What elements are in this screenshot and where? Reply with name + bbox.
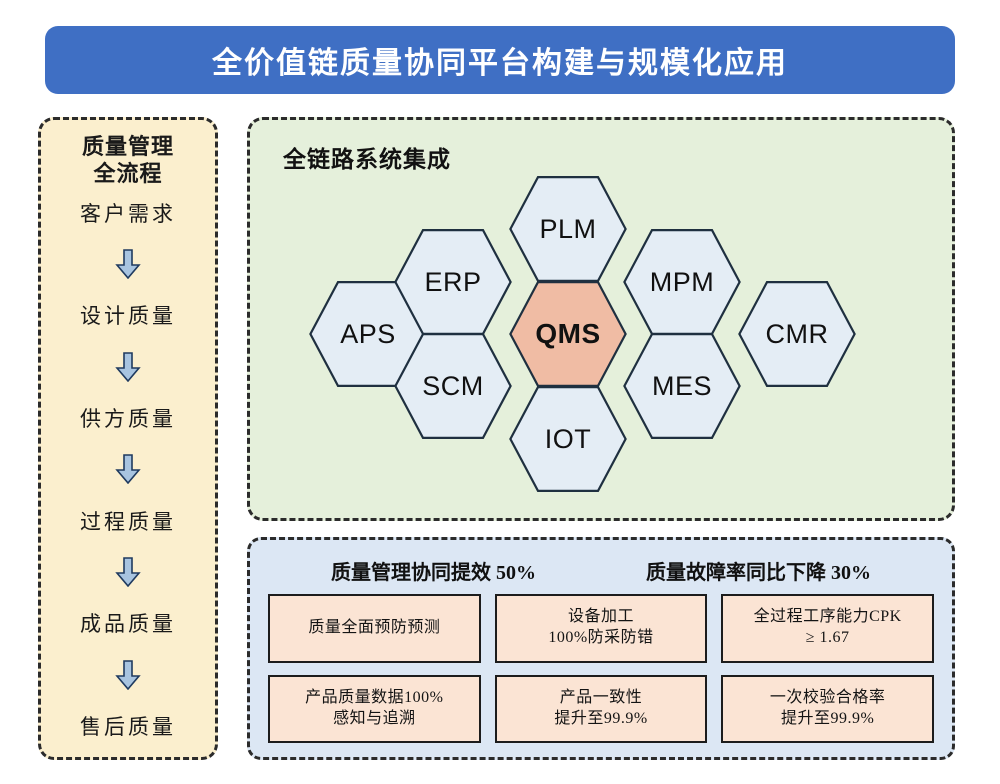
hex-node-label: ERP xyxy=(424,267,481,298)
result-card[interactable]: 产品质量数据100% 感知与追溯 xyxy=(268,675,481,744)
flow-step-3[interactable]: 供方质量 xyxy=(80,403,176,433)
quality-flow-title: 质量管理 全流程 xyxy=(82,134,174,188)
quality-flow-panel: 质量管理 全流程 客户需求 设计质量 供方质量 过程质量 成品质量 售后质量 xyxy=(38,117,218,760)
result-card-text: 全过程工序能力CPK ≥ 1.67 xyxy=(754,607,902,649)
hex-node-iot[interactable]: IOT xyxy=(508,385,628,493)
infographic-root: 全价值链质量协同平台构建与规模化应用 质量管理 全流程 客户需求 设计质量 供方… xyxy=(0,0,1000,784)
kpi-stats-row: 质量管理协同提效 50% 质量故障率同比下降 30% xyxy=(264,550,938,590)
result-card[interactable]: 一次校验合格率 提升至99.9% xyxy=(721,675,934,744)
arrow-down-icon xyxy=(114,249,142,279)
hex-node-label: APS xyxy=(340,319,396,350)
result-card[interactable]: 设备加工 100%防采防错 xyxy=(495,594,708,663)
hex-node-qms[interactable]: QMS xyxy=(508,280,628,388)
result-card-text: 产品一致性 提升至99.9% xyxy=(554,688,647,730)
result-card-text: 质量全面预防预测 xyxy=(308,618,440,639)
result-card[interactable]: 质量全面预防预测 xyxy=(268,594,481,663)
kpi-stat-collaboration: 质量管理协同提效 50% xyxy=(331,556,536,585)
arrow-down-icon xyxy=(114,660,142,690)
hex-node-label: CMR xyxy=(766,319,829,350)
hex-node-label: SCM xyxy=(422,371,484,402)
hex-node-label: MPM xyxy=(650,267,715,298)
hex-node-label: IOT xyxy=(545,424,592,455)
result-card-text: 设备加工 100%防采防错 xyxy=(548,607,653,649)
arrow-down-icon xyxy=(114,557,142,587)
hex-node-scm[interactable]: SCM xyxy=(393,332,513,440)
result-card[interactable]: 产品一致性 提升至99.9% xyxy=(495,675,708,744)
flow-step-6[interactable]: 售后质量 xyxy=(80,711,176,741)
page-title: 全价值链质量协同平台构建与规模化应用 xyxy=(212,38,788,82)
results-panel: 质量管理协同提效 50% 质量故障率同比下降 30% 质量全面预防预测 设备加工… xyxy=(247,537,955,760)
hex-node-erp[interactable]: ERP xyxy=(393,228,513,336)
result-card-text: 一次校验合格率 提升至99.9% xyxy=(770,688,886,730)
hex-node-cmr[interactable]: CMR xyxy=(737,280,857,388)
arrow-down-icon xyxy=(114,454,142,484)
hex-node-mpm[interactable]: MPM xyxy=(622,228,742,336)
hex-node-label: PLM xyxy=(539,214,596,245)
hex-node-plm[interactable]: PLM xyxy=(508,175,628,283)
flow-step-5[interactable]: 成品质量 xyxy=(80,608,176,638)
quality-flow-list: 客户需求 设计质量 供方质量 过程质量 成品质量 售后质量 xyxy=(80,198,176,747)
system-integration-panel: 全链路系统集成 APSERPSCMPLMQMSIOTMPMMESCMR xyxy=(247,117,955,521)
hex-node-mes[interactable]: MES xyxy=(622,332,742,440)
result-card[interactable]: 全过程工序能力CPK ≥ 1.67 xyxy=(721,594,934,663)
flow-step-2[interactable]: 设计质量 xyxy=(80,300,176,330)
hex-node-label: MES xyxy=(652,371,712,402)
system-hexagon-cluster: APSERPSCMPLMQMSIOTMPMMESCMR xyxy=(250,120,952,518)
flow-step-1[interactable]: 客户需求 xyxy=(80,198,176,228)
kpi-stat-defect-rate: 质量故障率同比下降 30% xyxy=(646,556,871,585)
arrow-down-icon xyxy=(114,352,142,382)
hex-node-label: QMS xyxy=(535,318,600,350)
flow-step-4[interactable]: 过程质量 xyxy=(80,506,176,536)
page-title-bar: 全价值链质量协同平台构建与规模化应用 xyxy=(45,26,955,94)
result-card-text: 产品质量数据100% 感知与追溯 xyxy=(305,688,443,730)
result-cards-grid: 质量全面预防预测 设备加工 100%防采防错 全过程工序能力CPK ≥ 1.67… xyxy=(264,590,938,745)
